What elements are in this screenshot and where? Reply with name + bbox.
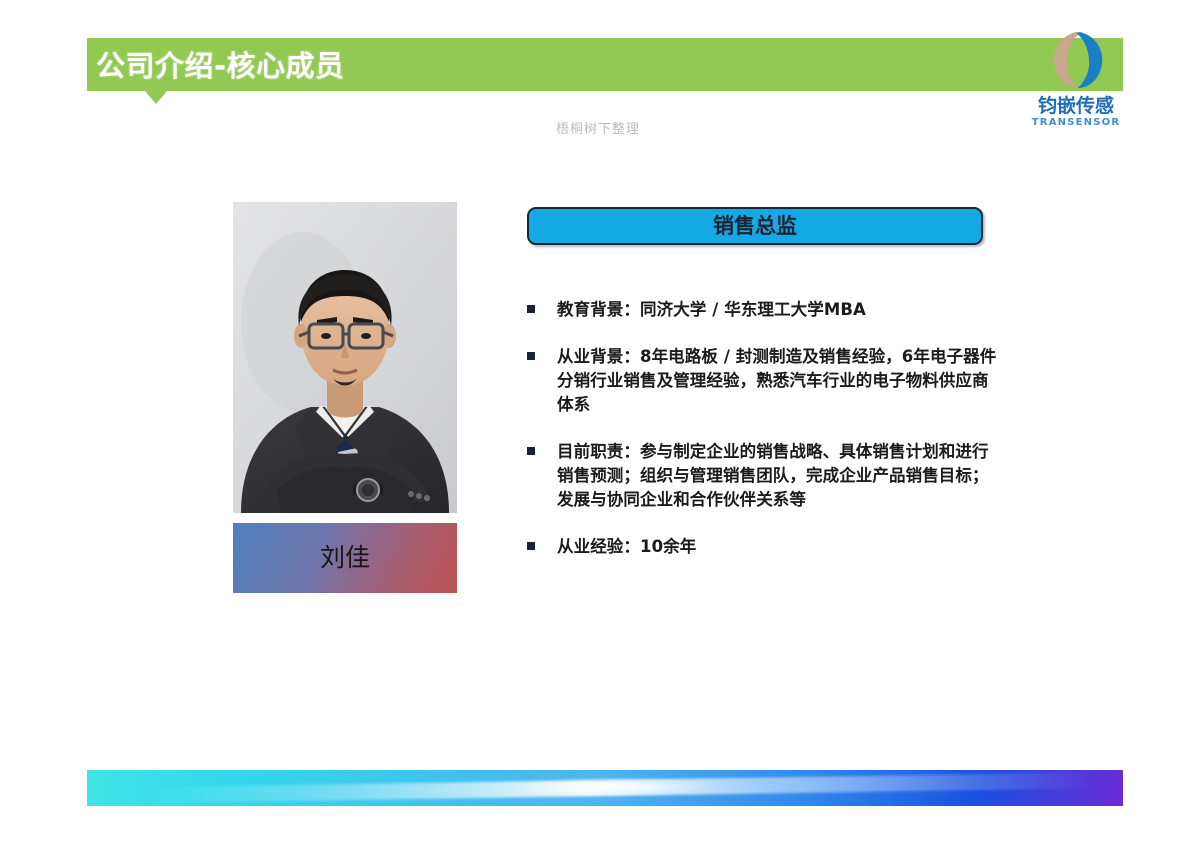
- profile-name-band: 刘佳: [233, 523, 457, 593]
- list-item-text: 教育背景：同济大学 / 华东理工大学MBA: [557, 300, 866, 319]
- logo-english-name: TRANSENSOR: [1028, 116, 1124, 130]
- square-bullet-icon: [527, 447, 535, 455]
- header-banner-tab-icon: [145, 91, 167, 104]
- list-item-text: 目前职责：参与制定企业的销售战略、具体销售计划和进行销售预测；组织与管理销售团队…: [557, 442, 989, 509]
- role-title-box: 销售总监: [527, 207, 983, 245]
- list-item: 教育背景：同济大学 / 华东理工大学MBA: [527, 298, 997, 322]
- list-item: 从业经验：10余年: [527, 535, 997, 559]
- profile-detail-list: 教育背景：同济大学 / 华东理工大学MBA 从业背景：8年电路板 / 封测制造及…: [527, 298, 997, 582]
- transensor-logo-mark-icon: [1046, 28, 1108, 92]
- footer-decorative-band: [87, 770, 1123, 806]
- logo-chinese-name: 钧嵌传感: [1028, 94, 1124, 118]
- square-bullet-icon: [527, 542, 535, 550]
- list-item-text: 从业背景：8年电路板 / 封测制造及销售经验，6年电子器件分销行业销售及管理经验…: [557, 347, 996, 414]
- list-item-text: 从业经验：10余年: [557, 537, 696, 556]
- profile-name: 刘佳: [233, 523, 457, 593]
- profile-photo-card: 刘佳: [233, 202, 457, 593]
- company-logo: 钧嵌传感 TRANSENSOR: [1028, 28, 1124, 136]
- footer-glow-highlight: [517, 778, 707, 796]
- page-title: 公司介绍-核心成员: [96, 45, 796, 87]
- list-item: 从业背景：8年电路板 / 封测制造及销售经验，6年电子器件分销行业销售及管理经验…: [527, 345, 997, 417]
- list-item: 目前职责：参与制定企业的销售战略、具体销售计划和进行销售预测；组织与管理销售团队…: [527, 440, 997, 512]
- square-bullet-icon: [527, 352, 535, 360]
- slide-canvas: 公司介绍-核心成员 钧嵌传感 TRANSENSOR 梧桐树下整理: [0, 0, 1200, 849]
- square-bullet-icon: [527, 305, 535, 313]
- watermark-text: 梧桐树下整理: [556, 118, 640, 137]
- role-title: 销售总监: [529, 209, 981, 243]
- portrait-photo: [233, 202, 457, 513]
